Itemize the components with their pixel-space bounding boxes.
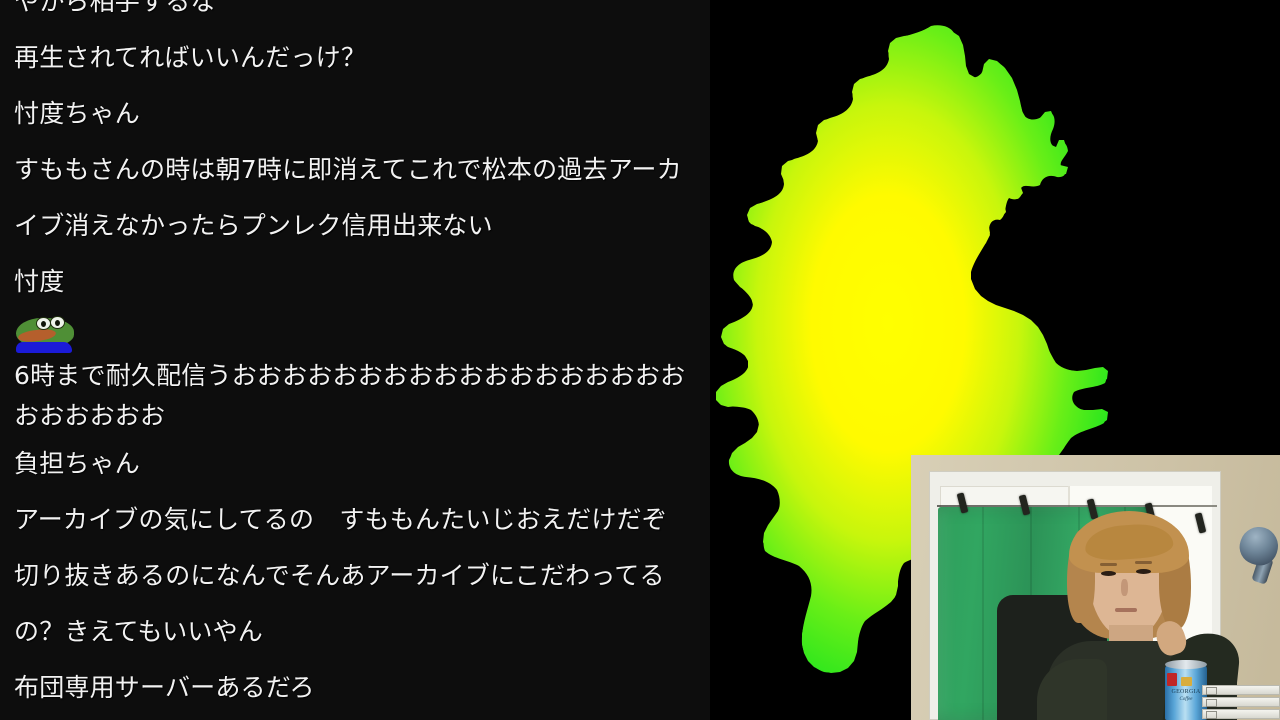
chat-message-text: 6時まで耐久配信うおおおおおおおおおおおおおおおおおおおおおおおお [14,361,685,430]
pepe-frog-emote-icon [14,314,76,354]
chat-message: 6時まで耐久配信うおおおおおおおおおおおおおおおおおおおおおおおお [14,310,696,436]
chat-message-text: 再生されてればいいんだっけ？ [14,43,366,72]
chat-message: 忖度ちゃん [14,86,696,142]
chat-message-text: 忖度ちゃん [14,99,140,128]
microphone-icon [1240,527,1278,579]
nose [1121,579,1128,596]
chat-message: やから相手するな [14,0,696,30]
chat-message-text: 負担ちゃん [14,449,140,478]
chat-message-text: やから相手するな [14,0,216,16]
live-chat-panel[interactable]: やから相手するな 再生されてればいいんだっけ？ 忖度ちゃん すももさんの時は朝7… [0,0,710,720]
chat-message: 布団専用サーバーあるだろ [14,660,696,716]
chat-message-list[interactable]: やから相手するな 再生されてればいいんだっけ？ 忖度ちゃん すももさんの時は朝7… [0,0,710,716]
georgia-coffee-can: GEORGIA Coffee [1165,665,1207,720]
mouth [1115,608,1137,612]
can-sublabel: Coffee [1165,697,1207,702]
chat-message: アーカイブの気にしてるの すももんたいじおえだけだぞ 切り抜きあるのになんでそん… [14,492,696,660]
eyebrow-right [1135,561,1152,564]
eyebrow-left [1100,563,1117,566]
stream-screen: やから相手するな 再生されてればいいんだっけ？ 忖度ちゃん すももさんの時は朝7… [0,0,1280,720]
eye-right [1136,569,1151,574]
chat-message-text: 布団専用サーバーあるだろ [14,673,315,702]
chat-message-text: 忖度 [14,267,64,296]
chat-message: 忖度 [14,254,696,310]
webcam-overlay[interactable]: GEORGIA Coffee [911,455,1280,720]
chat-message: 負担ちゃん [14,436,696,492]
chat-emote-row [14,314,696,356]
chat-message: すももさんの時は朝7時に即消えてこれで松本の過去アーカイブ消えなかったらプンレク… [14,142,696,254]
chat-message: 再生されてればいいんだっけ？ [14,30,696,86]
eye-left [1101,571,1116,576]
chat-message-text: アーカイブの気にしてるの すももんたいじおえだけだぞ 切り抜きあるのになんでそん… [14,505,692,646]
stacked-boxes [1202,685,1280,720]
can-label: GEORGIA [1165,689,1207,695]
shoulder-left [1037,659,1107,720]
chat-message-text: すももさんの時は朝7時に即消えてこれで松本の過去アーカイブ消えなかったらプンレク… [14,155,682,240]
